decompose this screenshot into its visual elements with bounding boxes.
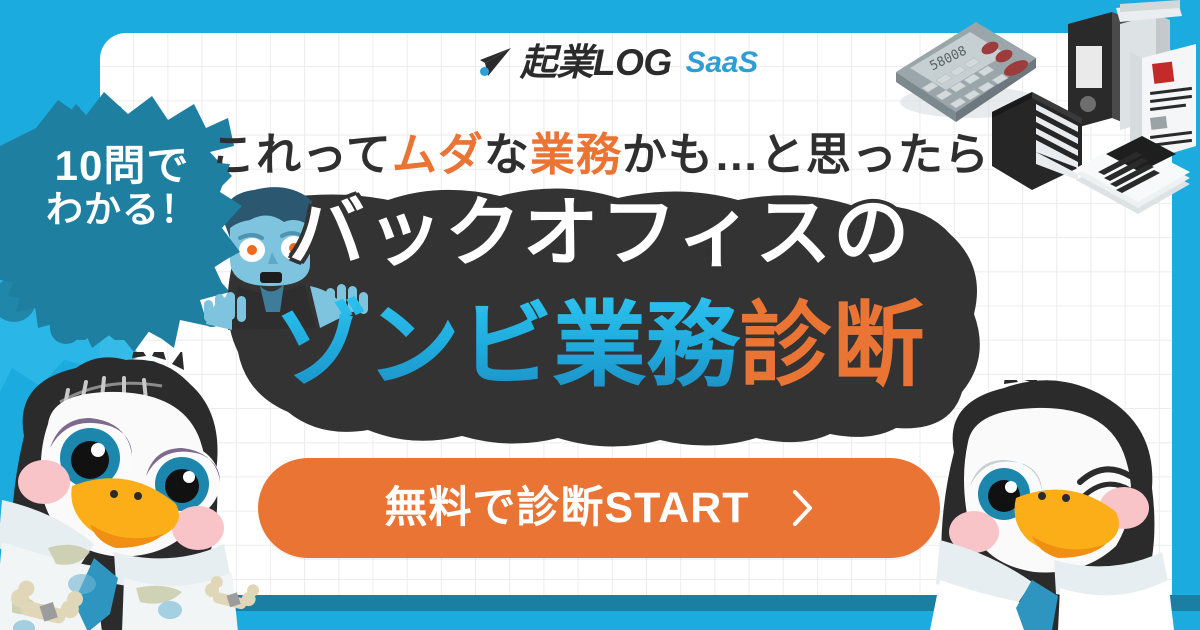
badge-line-2: わかる！ (38, 189, 206, 230)
logo-product-saas: SaaS (686, 48, 758, 78)
question-count-badge: 10問で わかる！ (4, 100, 244, 345)
headline-zombie-text: ゾンビ業務 (274, 295, 739, 397)
tagline-part3: かも…と思ったら (622, 129, 990, 180)
banner-root: 58008 (0, 0, 1200, 630)
chevron-right-icon (792, 489, 814, 527)
winking-penguin-right (920, 380, 1200, 630)
tagline-highlight-gyomu: 業務 (530, 129, 622, 180)
paper-plane-icon (478, 46, 512, 80)
cta-label: 無料で診断START (384, 487, 749, 530)
headline-diagnosis-text: 診断 (740, 295, 926, 397)
tagline-highlight-muda: ムダ (392, 129, 484, 180)
badge-text: 10問で わかる！ (38, 142, 206, 230)
tagline-part2: な (484, 129, 530, 180)
badge-line-1: 10問で (38, 142, 206, 189)
brand-logo[interactable]: 起業LOG SaaS (478, 44, 758, 81)
zombie-penguin-left (0, 352, 286, 630)
logo-wordmark: 起業LOG (520, 44, 672, 81)
start-diagnosis-button[interactable]: 無料で診断START (258, 458, 940, 558)
